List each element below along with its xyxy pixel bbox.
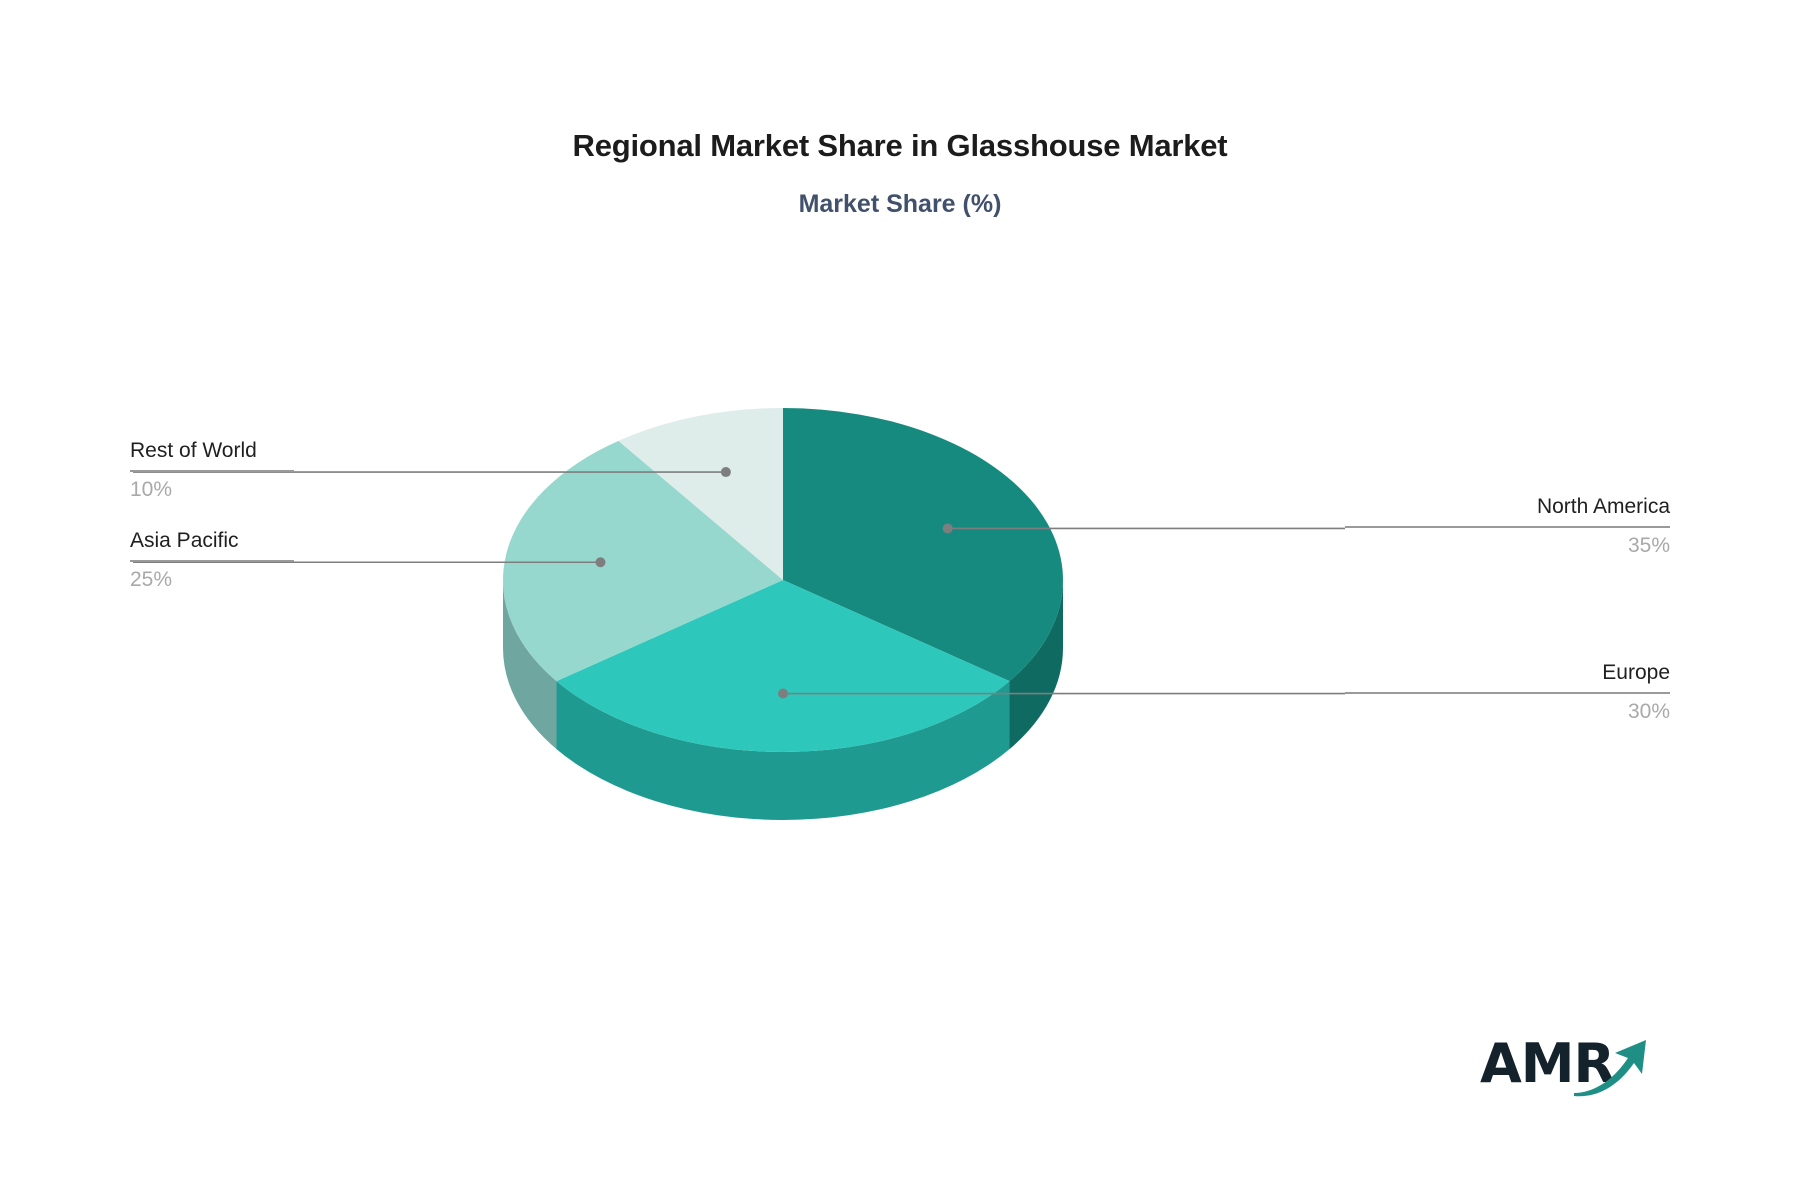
callout-europe: Europe 30% xyxy=(1345,660,1670,725)
callout-rule-europe xyxy=(1345,692,1670,694)
amr-logo: AMR xyxy=(1480,1030,1655,1100)
callout-rest-of-world: Rest of World 10% xyxy=(130,438,294,503)
callout-label-asia-pacific: Asia Pacific xyxy=(130,528,294,554)
callout-value-rest-of-world: 10% xyxy=(130,477,294,503)
callout-value-europe: 30% xyxy=(1345,699,1670,725)
chart-canvas: Regional Market Share in Glasshouse Mark… xyxy=(0,0,1800,1196)
pie-svg xyxy=(0,0,1800,1196)
callout-label-rest-of-world: Rest of World xyxy=(130,438,294,464)
callout-north-america: North America 35% xyxy=(1345,494,1670,559)
leader-dot-europe xyxy=(778,689,788,699)
callout-label-north-america: North America xyxy=(1345,494,1670,520)
growth-arrow-icon xyxy=(1572,1036,1652,1098)
leader-dot-asia-pacific xyxy=(595,557,605,567)
leader-dot-rest-of-world xyxy=(721,467,731,477)
callout-rule-rest-of-world xyxy=(130,470,294,472)
callout-value-north-america: 35% xyxy=(1345,533,1670,559)
callout-value-asia-pacific: 25% xyxy=(130,567,294,593)
callout-label-europe: Europe xyxy=(1345,660,1670,686)
pie-chart xyxy=(0,0,1800,1196)
callout-asia-pacific: Asia Pacific 25% xyxy=(130,528,294,593)
callout-rule-asia-pacific xyxy=(130,560,294,562)
callout-rule-north-america xyxy=(1345,526,1670,528)
leader-dot-north-america xyxy=(943,523,953,533)
pie-top-face xyxy=(503,408,1063,752)
